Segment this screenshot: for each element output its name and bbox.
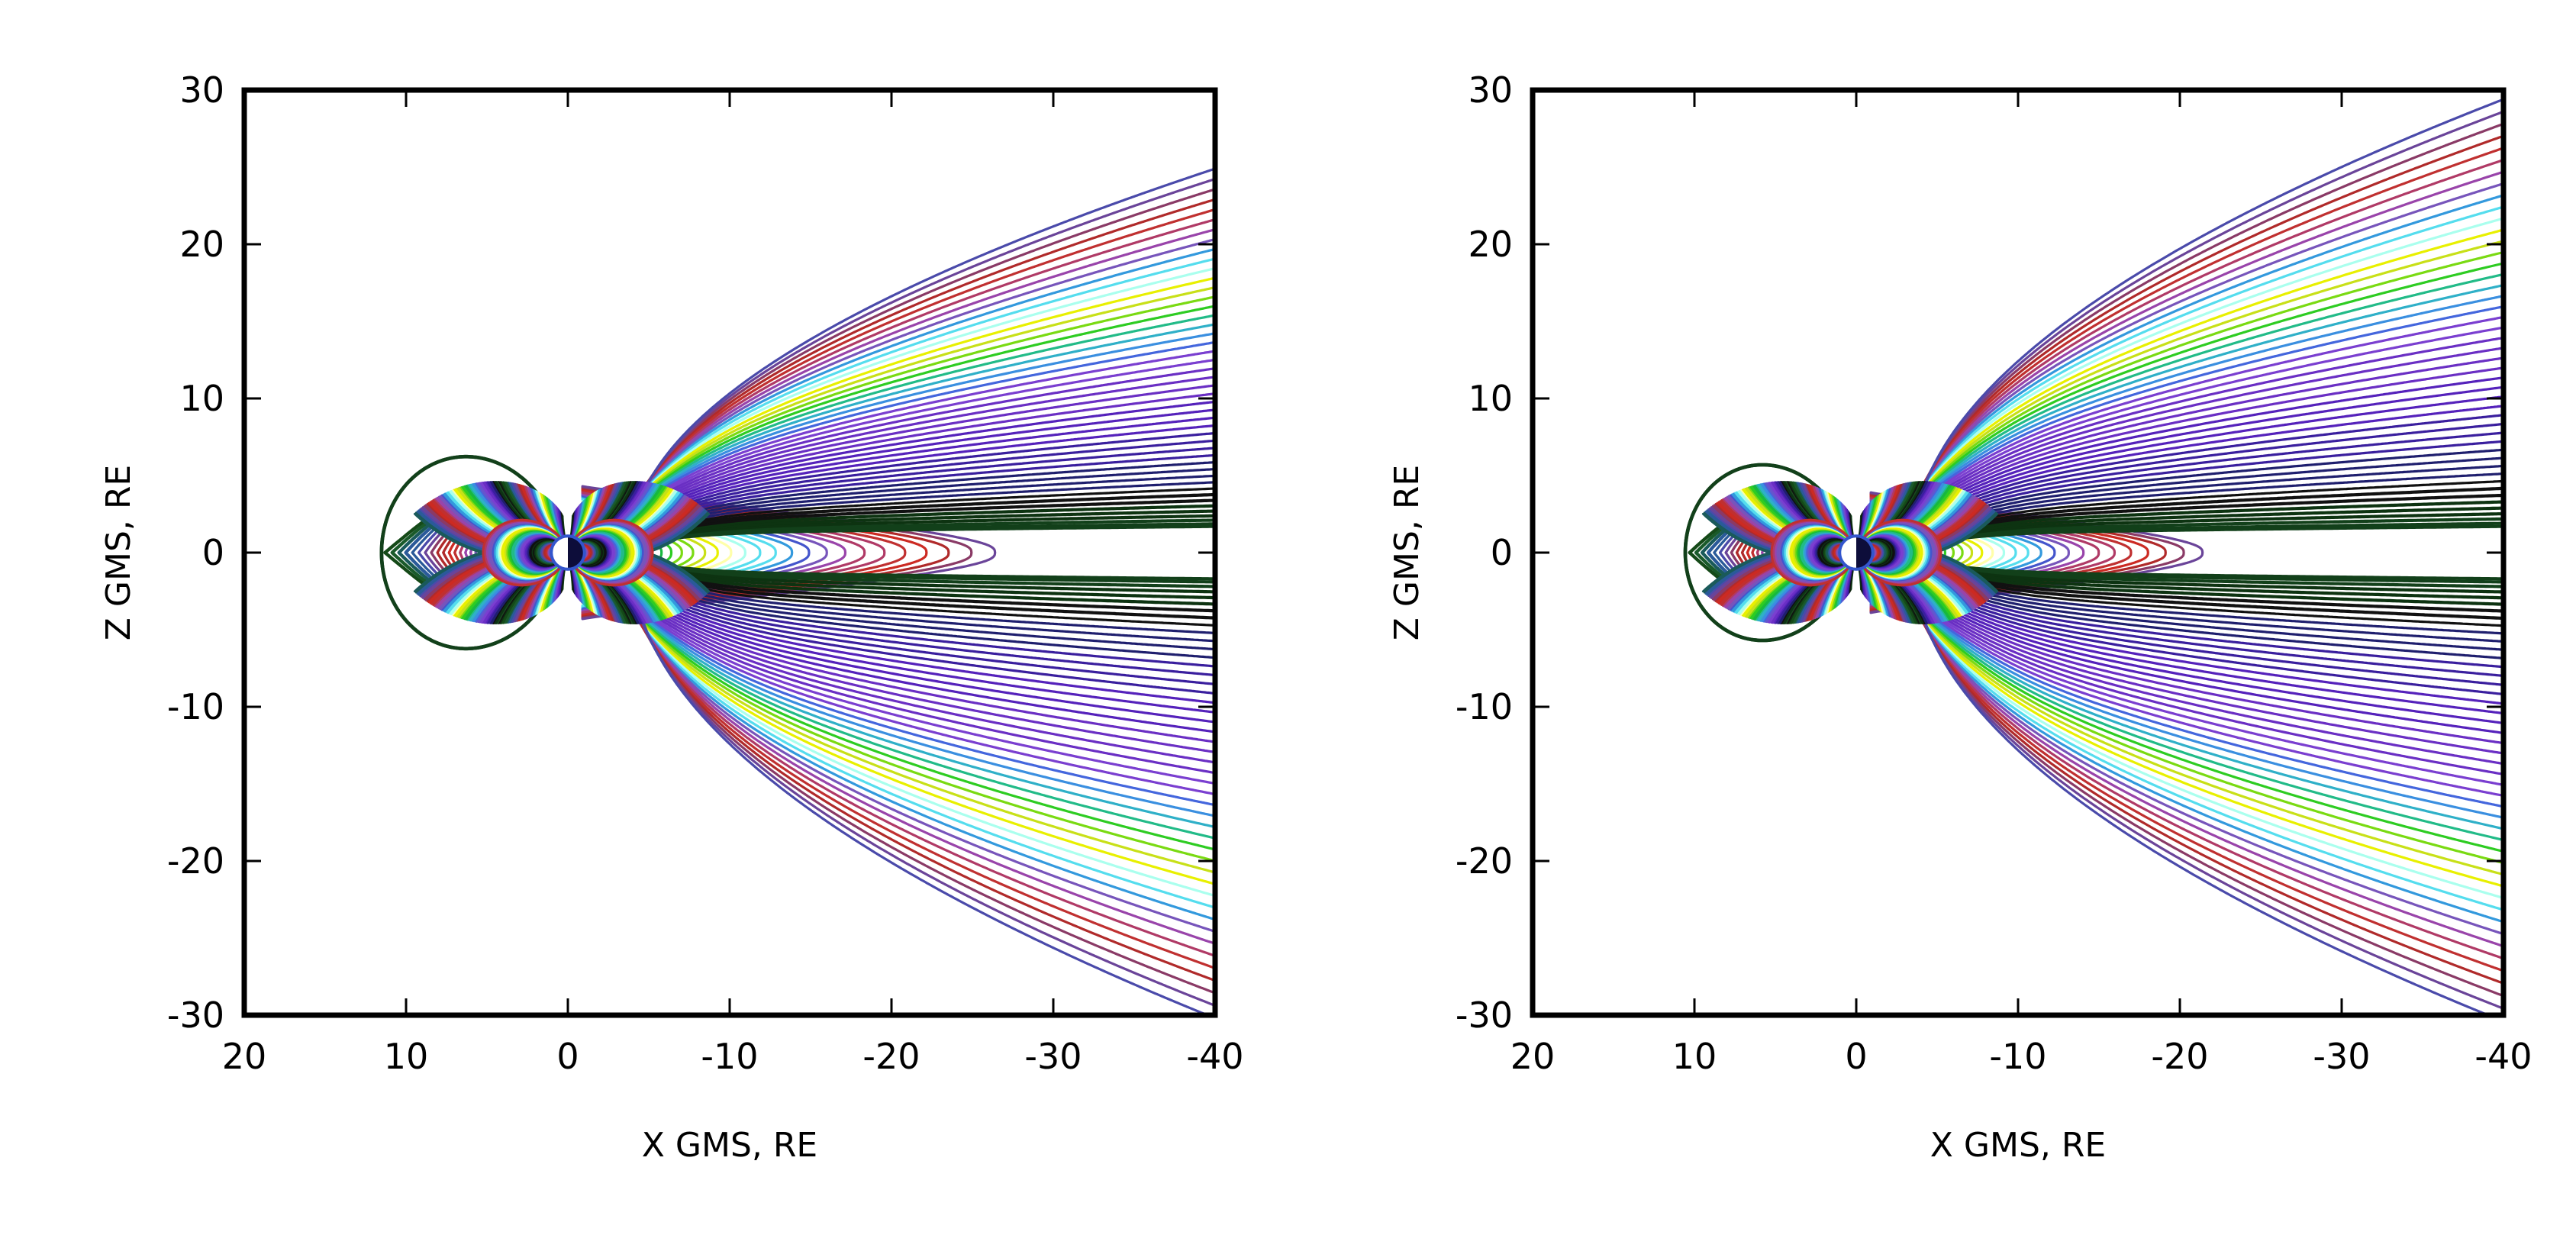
- x-tick-label: -30: [2313, 1036, 2370, 1077]
- y-tick-label: 30: [179, 69, 224, 111]
- y-tick-label: -20: [1456, 840, 1513, 882]
- x-tick-label: 20: [1510, 1036, 1556, 1077]
- axes-frame-right: [1533, 90, 2503, 1015]
- y-axis-title: Z GMS, RE: [99, 465, 138, 640]
- panel-left: 20100-10-20-30-403020100-10-20-30X GMS, …: [0, 0, 1288, 1235]
- x-axis-title: X GMS, RE: [642, 1126, 817, 1165]
- y-tick-label: 20: [1468, 224, 1513, 265]
- x-tick-label: -40: [2474, 1036, 2532, 1077]
- x-tick-label: 20: [222, 1036, 267, 1077]
- x-tick-label: 0: [556, 1036, 579, 1077]
- y-tick-label: -10: [1456, 686, 1513, 727]
- y-tick-label: 20: [179, 224, 224, 265]
- x-tick-label: 10: [384, 1036, 429, 1077]
- y-tick-label: -10: [167, 686, 224, 727]
- y-tick-label: 30: [1468, 69, 1513, 111]
- y-tick-label: 0: [1491, 532, 1513, 573]
- panel-right: 20100-10-20-30-403020100-10-20-30X GMS, …: [1288, 0, 2576, 1235]
- figure-root: 20100-10-20-30-403020100-10-20-30X GMS, …: [0, 0, 2576, 1235]
- y-axis-title: Z GMS, RE: [1388, 465, 1427, 640]
- y-tick-label: 10: [179, 378, 224, 419]
- earth-right: [1839, 536, 1872, 569]
- x-axis-title: X GMS, RE: [1930, 1126, 2106, 1165]
- y-tick-label: -20: [167, 840, 224, 882]
- plot-left[interactable]: 20100-10-20-30-403020100-10-20-30X GMS, …: [0, 0, 1288, 1235]
- field-lines-left: [382, 169, 1215, 1017]
- x-tick-label: 10: [1672, 1036, 1717, 1077]
- x-tick-label: -30: [1024, 1036, 1082, 1077]
- field-lines-right: [1685, 99, 2503, 1016]
- y-tick-label: 10: [1468, 378, 1513, 419]
- y-tick-label: -30: [167, 995, 224, 1036]
- y-tick-label: -30: [1456, 995, 1513, 1036]
- earth-left: [551, 536, 584, 569]
- y-tick-label: 0: [202, 532, 224, 573]
- x-tick-label: 0: [1845, 1036, 1867, 1077]
- x-tick-label: -20: [2151, 1036, 2208, 1077]
- x-tick-label: -10: [1989, 1036, 2046, 1077]
- x-tick-label: -20: [862, 1036, 920, 1077]
- plot-right[interactable]: 20100-10-20-30-403020100-10-20-30X GMS, …: [1288, 0, 2576, 1235]
- axis-labels-right: 20100-10-20-30-403020100-10-20-30X GMS, …: [1388, 69, 2532, 1165]
- x-tick-label: -10: [701, 1036, 758, 1077]
- x-tick-label: -40: [1186, 1036, 1243, 1077]
